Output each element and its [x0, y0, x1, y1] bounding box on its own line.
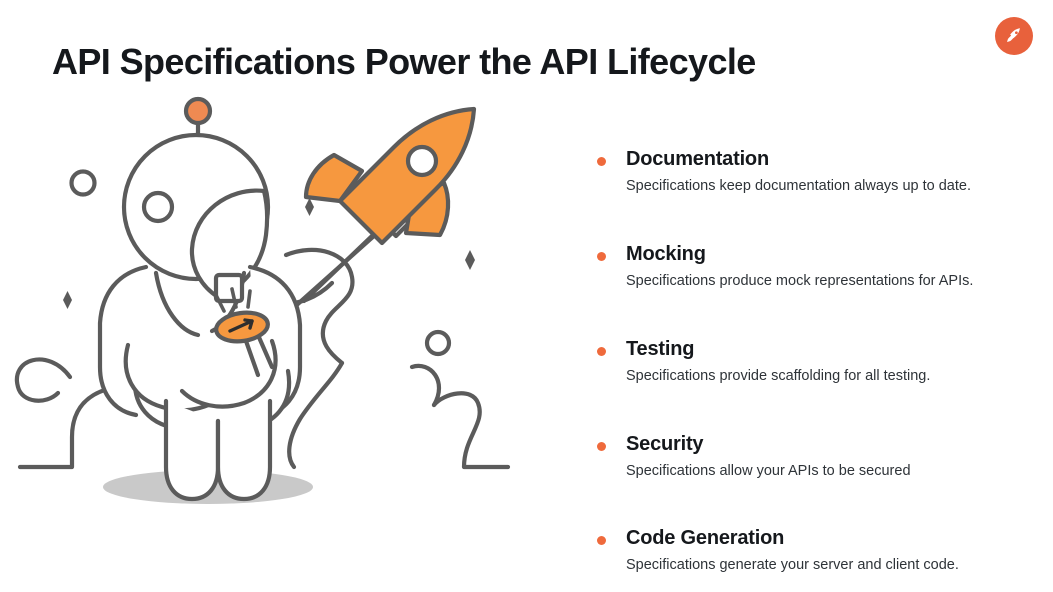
feature-description: Specifications allow your APIs to be sec…	[626, 462, 1014, 481]
feature-title: Documentation	[626, 148, 1014, 171]
list-item: Documentation Specifications keep docume…	[594, 148, 1014, 196]
feature-description: Specifications produce mock representati…	[626, 272, 1014, 291]
list-item: Testing Specifications provide scaffoldi…	[594, 338, 1014, 386]
feature-title: Testing	[626, 338, 1014, 361]
rocket-pen-icon	[1003, 25, 1025, 47]
feature-description: Specifications provide scaffolding for a…	[626, 367, 1014, 386]
list-item: Code Generation Specifications generate …	[594, 527, 1014, 575]
feature-title: Security	[626, 433, 1014, 456]
feature-description: Specifications generate your server and …	[626, 556, 1014, 575]
bullet-dot-icon	[597, 536, 606, 545]
astronaut-with-rocket-illustration	[10, 95, 540, 515]
slide-canvas: API Specifications Power the API Lifecyc…	[0, 0, 1053, 592]
bullet-dot-icon	[597, 157, 606, 166]
list-item: Security Specifications allow your APIs …	[594, 433, 1014, 481]
page-title: API Specifications Power the API Lifecyc…	[52, 41, 756, 83]
bullet-dot-icon	[597, 442, 606, 451]
brand-logo-badge[interactable]	[995, 17, 1033, 55]
feature-list: Documentation Specifications keep docume…	[594, 148, 1014, 575]
feature-title: Mocking	[626, 243, 1014, 266]
feature-title: Code Generation	[626, 527, 1014, 550]
list-item: Mocking Specifications produce mock repr…	[594, 243, 1014, 291]
bullet-dot-icon	[597, 347, 606, 356]
bullet-dot-icon	[597, 252, 606, 261]
feature-description: Specifications keep documentation always…	[626, 177, 1014, 196]
